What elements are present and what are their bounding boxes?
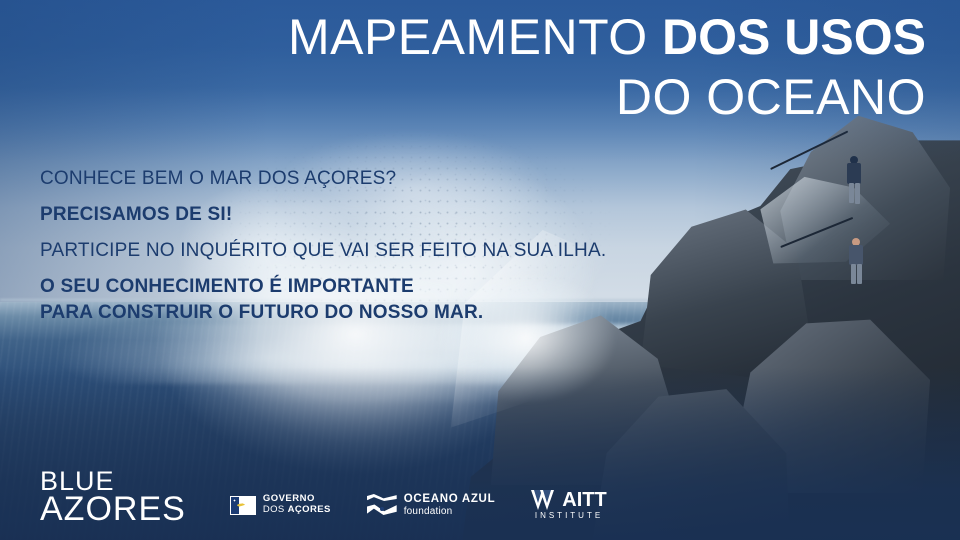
body-line-callout: PRECISAMOS DE SI!: [40, 204, 606, 226]
logo-governo-dos-acores: GOVERNO DOS AÇORES: [230, 494, 331, 515]
waitt-wordmark: AITT: [531, 490, 606, 510]
oceano-azul-line-1: OCEANO AZUL: [404, 493, 496, 506]
oceano-azul-wave-icon: [367, 493, 397, 517]
governo-line-2: DOS AÇORES: [263, 505, 331, 516]
wave-eye-dot: [380, 507, 384, 511]
governo-acores: AÇORES: [288, 504, 331, 515]
fisherman-torso: [849, 245, 863, 265]
fisherman-torso: [847, 163, 861, 184]
oceano-azul-text: OCEANO AZUL foundation: [404, 493, 496, 518]
blue-azores-logo: BLUE AZORES: [40, 469, 186, 526]
poster-title: MAPEAMENTO DOS USOS DO OCEANO: [166, 12, 926, 122]
oceano-azul-line-2: foundation: [404, 506, 496, 518]
flag-stars: [232, 498, 237, 503]
title-light-part: MAPEAMENTO: [288, 9, 662, 65]
title-line-1: MAPEAMENTO DOS USOS: [166, 12, 926, 62]
wave-stripe: [367, 494, 397, 501]
body-line-question: CONHECE BEM O MAR DOS AÇORES?: [40, 168, 606, 190]
partner-logos: GOVERNO DOS AÇORES OCEANO AZUL foundatio…: [230, 490, 607, 520]
waitt-subtitle: INSTITUTE: [531, 512, 606, 520]
waitt-w-icon: [531, 490, 561, 510]
azores-flag-icon: [230, 496, 256, 515]
body-line-future: PARA CONSTRUIR O FUTURO DO NOSSO MAR.: [40, 302, 606, 324]
footer-logos: BLUE AZORES GOVERNO DOS AÇORES: [40, 469, 607, 526]
poster: MAPEAMENTO DOS USOS DO OCEANO CONHECE BE…: [0, 0, 960, 540]
fisherman-leg: [851, 264, 856, 284]
body-line-survey: PARTICIPE NO INQUÉRITO QUE VAI SER FEITO…: [40, 240, 606, 262]
fisherman-figure: [845, 238, 869, 286]
body-copy: CONHECE BEM O MAR DOS AÇORES? PRECISAMOS…: [40, 168, 606, 338]
governo-dos: DOS: [263, 504, 288, 515]
w-chevron-inner: [543, 490, 551, 503]
title-bold-part: DOS USOS: [662, 9, 926, 65]
title-line-2: DO OCEANO: [166, 72, 926, 122]
logo-oceano-azul: OCEANO AZUL foundation: [367, 493, 496, 518]
logo-waitt-institute: AITT INSTITUTE: [531, 490, 606, 520]
fisherman-leg: [857, 264, 862, 284]
governo-text: GOVERNO DOS AÇORES: [263, 494, 331, 515]
blue-azores-line-2: AZORES: [40, 494, 186, 526]
fisherman-leg: [849, 183, 854, 203]
waitt-letters: AITT: [562, 490, 606, 510]
fisherman-figure: [841, 156, 867, 208]
fisherman-leg: [855, 183, 860, 204]
body-line-knowledge: O SEU CONHECIMENTO É IMPORTANTE: [40, 276, 606, 298]
